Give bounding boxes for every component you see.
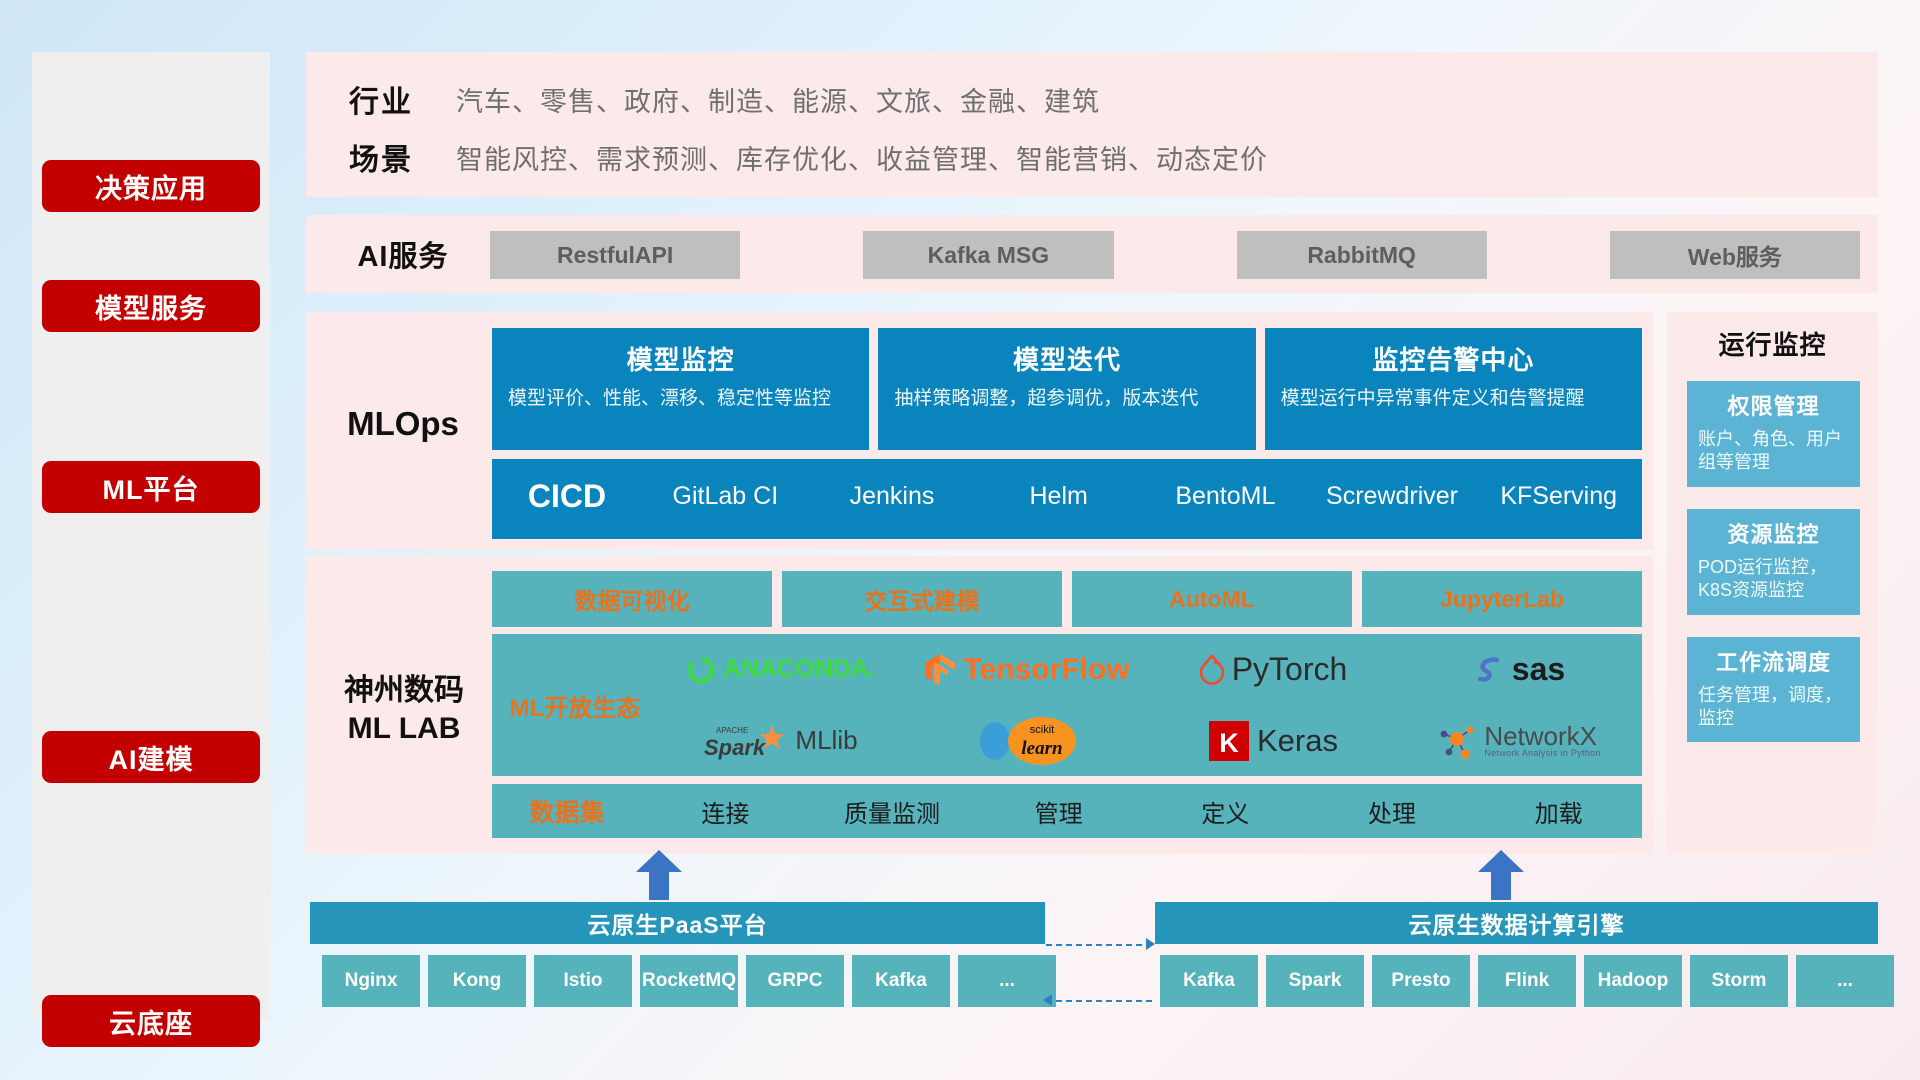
networkx-subtitle: Network Analysis in Python xyxy=(1484,749,1600,758)
dataset-item-connect[interactable]: 连接 xyxy=(642,794,809,829)
networkx-wordmark: NetworkX xyxy=(1484,723,1600,749)
cloud-chip-grpc[interactable]: GRPC xyxy=(746,955,844,1007)
cicd-row: CICD GitLab CI Jenkins Helm BentoML Scre… xyxy=(492,459,1642,539)
tensorflow-wordmark: TensorFlow xyxy=(963,653,1129,687)
keras-mark-icon: K xyxy=(1208,720,1250,762)
card-desc: POD运行监控，K8S资源监控 xyxy=(1698,556,1849,603)
dataset-label: 数据集 xyxy=(492,793,642,829)
ml-ecosystem-panel: ML开放生态 ANACONDA. TensorFlow xyxy=(492,634,1642,776)
architecture-diagram: 决策应用 模型服务 ML平台 AI建模 云底座 行业 汽车、零售、政府、制造、能… xyxy=(0,0,1920,1080)
sidebar-item-model-service[interactable]: 模型服务 xyxy=(42,280,260,332)
card-title: 监控告警中心 xyxy=(1281,340,1626,377)
monitoring-card-resource[interactable]: 资源监控 POD运行监控，K8S资源监控 xyxy=(1687,509,1860,615)
pytorch-flame-icon xyxy=(1199,654,1225,686)
scikit-learn-logo: scikit learn xyxy=(976,716,1079,766)
cicd-item-screwdriver[interactable]: Screwdriver xyxy=(1309,459,1476,511)
spark-mllib-logo: APACHE Spark MLlib xyxy=(704,721,857,761)
card-title: 资源监控 xyxy=(1698,517,1849,549)
cloud-data-engine-bar[interactable]: 云原生数据计算引擎 xyxy=(1155,902,1878,944)
mlops-card-alert-center[interactable]: 监控告警中心 模型运行中异常事件定义和告警提醒 xyxy=(1265,328,1642,450)
scenario-label: 场景 xyxy=(306,135,456,179)
ai-service-chip-rabbitmq[interactable]: RabbitMQ xyxy=(1237,231,1487,279)
svg-text:learn: learn xyxy=(1021,738,1062,759)
cicd-item-bentoml[interactable]: BentoML xyxy=(1142,459,1309,511)
anaconda-mark-icon xyxy=(686,655,716,685)
cloud-chip-storm[interactable]: Storm xyxy=(1690,955,1788,1007)
cicd-item-helm[interactable]: Helm xyxy=(975,459,1142,511)
cloud-data-engine-chip-row: Kafka Spark Presto Flink Hadoop Storm ..… xyxy=(1160,955,1894,1007)
dataset-item-process[interactable]: 处理 xyxy=(1309,794,1476,829)
cicd-item-kfserving[interactable]: KFServing xyxy=(1475,459,1642,511)
networkx-graph-icon xyxy=(1437,721,1477,761)
dataset-item-manage[interactable]: 管理 xyxy=(975,794,1142,829)
ml-lab-label-line1: 神州数码 xyxy=(322,672,486,710)
scikit-word: scikit xyxy=(1029,724,1053,736)
ml-lab-tool-row: 数据可视化 交互式建模 AutoML JupyterLab xyxy=(492,571,1642,627)
cloud-chip-kafka-engine[interactable]: Kafka xyxy=(1160,955,1258,1007)
pytorch-wordmark: PyTorch xyxy=(1232,651,1348,688)
monitoring-card-workflow[interactable]: 工作流调度 任务管理，调度，监控 xyxy=(1687,637,1860,743)
lab-tool-interactive-modeling[interactable]: 交互式建模 xyxy=(782,571,1062,627)
ai-service-label: AI服务 xyxy=(328,230,478,278)
cicd-label: CICD xyxy=(492,459,642,515)
industry-label: 行业 xyxy=(306,77,456,121)
dataset-item-quality-monitor[interactable]: 质量监测 xyxy=(809,794,976,829)
dashed-connector-left xyxy=(1046,1000,1152,1004)
sidebar-item-ml-platform[interactable]: ML平台 xyxy=(42,461,260,513)
sas-logo: sas xyxy=(1473,651,1565,688)
cloud-chip-hadoop[interactable]: Hadoop xyxy=(1584,955,1682,1007)
sidebar-item-label: 云底座 xyxy=(109,1002,193,1041)
ai-service-chip-kafka-msg[interactable]: Kafka MSG xyxy=(863,231,1113,279)
card-desc: 抽样策略调整，超参调优，版本迭代 xyxy=(894,386,1239,411)
industry-row: 行业 汽车、零售、政府、制造、能源、文旅、金融、建筑 xyxy=(306,70,1100,128)
anaconda-logo: ANACONDA. xyxy=(686,655,876,685)
scenario-row: 场景 智能风控、需求预测、库存优化、收益管理、智能营销、动态定价 xyxy=(306,128,1268,186)
cloud-chip-istio[interactable]: Istio xyxy=(534,955,632,1007)
card-desc: 任务管理，调度，监控 xyxy=(1698,684,1849,731)
dashed-connector-right xyxy=(1046,944,1152,948)
card-title: 工作流调度 xyxy=(1698,645,1849,677)
mlops-card-row: 模型监控 模型评价、性能、漂移、稳定性等监控 模型迭代 抽样策略调整，超参调优，… xyxy=(492,328,1642,450)
ml-ecosystem-logo-grid: ANACONDA. TensorFlow PyTorch xyxy=(658,634,1642,776)
cloud-chip-more-right[interactable]: ... xyxy=(1796,955,1894,1007)
cicd-item-gitlab-ci[interactable]: GitLab CI xyxy=(642,459,809,511)
card-desc: 模型评价、性能、漂移、稳定性等监控 xyxy=(508,386,853,411)
cloud-chip-nginx[interactable]: Nginx xyxy=(322,955,420,1007)
cloud-chip-kong[interactable]: Kong xyxy=(428,955,526,1007)
dataset-item-define[interactable]: 定义 xyxy=(1142,794,1309,829)
monitoring-card-list: 权限管理 账户、角色、用户组等管理 资源监控 POD运行监控，K8S资源监控 工… xyxy=(1687,381,1860,764)
sidebar-item-label: ML平台 xyxy=(103,468,200,507)
pytorch-logo: PyTorch xyxy=(1199,651,1348,688)
mlops-card-model-monitoring[interactable]: 模型监控 模型评价、性能、漂移、稳定性等监控 xyxy=(492,328,869,450)
tensorflow-logo: TensorFlow xyxy=(924,653,1129,687)
card-title: 模型迭代 xyxy=(894,340,1239,377)
ml-ecosystem-title: ML开放生态 xyxy=(492,688,658,723)
arrow-up-paas-icon xyxy=(636,850,682,900)
cloud-chip-kafka[interactable]: Kafka xyxy=(852,955,950,1007)
sidebar-item-cloud-base[interactable]: 云底座 xyxy=(42,995,260,1047)
arrow-up-data-engine-icon xyxy=(1478,850,1524,900)
sas-mark-icon xyxy=(1473,654,1505,686)
card-desc: 模型运行中异常事件定义和告警提醒 xyxy=(1281,386,1626,411)
keras-wordmark: Keras xyxy=(1257,723,1338,759)
card-title: 模型监控 xyxy=(508,340,853,377)
dataset-item-load[interactable]: 加载 xyxy=(1475,794,1642,829)
sas-wordmark: sas xyxy=(1512,651,1565,688)
industry-values: 汽车、零售、政府、制造、能源、文旅、金融、建筑 xyxy=(456,80,1100,119)
cloud-chip-rocketmq[interactable]: RocketMQ xyxy=(640,955,738,1007)
cloud-chip-more-left[interactable]: ... xyxy=(958,955,1056,1007)
sidebar-item-ai-modeling[interactable]: AI建模 xyxy=(42,731,260,783)
cloud-chip-spark[interactable]: Spark xyxy=(1266,955,1364,1007)
lab-tool-automl[interactable]: AutoML xyxy=(1072,571,1352,627)
dataset-row: 数据集 连接 质量监测 管理 定义 处理 加载 xyxy=(492,784,1642,838)
dashed-arrow-head-left xyxy=(1043,994,1052,1006)
ai-service-chip-restfulapi[interactable]: RestfulAPI xyxy=(490,231,740,279)
ai-service-chip-web-service[interactable]: Web服务 xyxy=(1610,231,1860,279)
ai-service-chip-row: RestfulAPI Kafka MSG RabbitMQ Web服务 xyxy=(490,231,1860,279)
card-desc: 账户、角色、用户组等管理 xyxy=(1698,428,1849,475)
svg-text:Spark: Spark xyxy=(704,735,767,760)
cloud-chip-presto[interactable]: Presto xyxy=(1372,955,1470,1007)
mlops-label: MLOps xyxy=(328,405,478,443)
layer-rail: 决策应用 模型服务 ML平台 AI建模 云底座 xyxy=(32,52,270,1020)
card-title: 权限管理 xyxy=(1698,389,1849,421)
sidebar-item-decision-app[interactable]: 决策应用 xyxy=(42,160,260,212)
scenario-values: 智能风控、需求预测、库存优化、收益管理、智能营销、动态定价 xyxy=(456,138,1268,177)
apache-word: APACHE xyxy=(716,726,748,735)
cloud-paas-chip-row: Nginx Kong Istio RocketMQ GRPC Kafka ... xyxy=(322,955,1056,1007)
sidebar-item-label: 决策应用 xyxy=(95,167,207,206)
sidebar-item-label: AI建模 xyxy=(109,738,194,777)
anaconda-wordmark: ANACONDA. xyxy=(723,655,876,684)
ml-lab-label-line2: ML LAB xyxy=(322,710,486,748)
cicd-item-jenkins[interactable]: Jenkins xyxy=(809,459,976,511)
apache-spark-mark-icon: APACHE Spark xyxy=(704,721,788,761)
ml-lab-label: 神州数码 ML LAB xyxy=(322,672,486,749)
lab-tool-jupyterlab[interactable]: JupyterLab xyxy=(1362,571,1642,627)
tensorflow-mark-icon xyxy=(924,653,956,687)
monitoring-card-permission[interactable]: 权限管理 账户、角色、用户组等管理 xyxy=(1687,381,1860,487)
mllib-wordmark: MLlib xyxy=(795,725,857,756)
svg-text:K: K xyxy=(1219,728,1239,758)
mlops-card-model-iteration[interactable]: 模型迭代 抽样策略调整，超参调优，版本迭代 xyxy=(878,328,1255,450)
monitoring-title: 运行监控 xyxy=(1667,325,1878,362)
cloud-paas-bar[interactable]: 云原生PaaS平台 xyxy=(310,902,1045,944)
sidebar-item-label: 模型服务 xyxy=(95,287,207,326)
lab-tool-data-visualization[interactable]: 数据可视化 xyxy=(492,571,772,627)
networkx-logo: NetworkX Network Analysis in Python xyxy=(1437,721,1600,761)
keras-logo: K Keras xyxy=(1208,720,1338,762)
dashed-arrow-head-right xyxy=(1146,938,1155,950)
cloud-chip-flink[interactable]: Flink xyxy=(1478,955,1576,1007)
scikit-learn-mark-icon: scikit learn xyxy=(1005,716,1079,766)
